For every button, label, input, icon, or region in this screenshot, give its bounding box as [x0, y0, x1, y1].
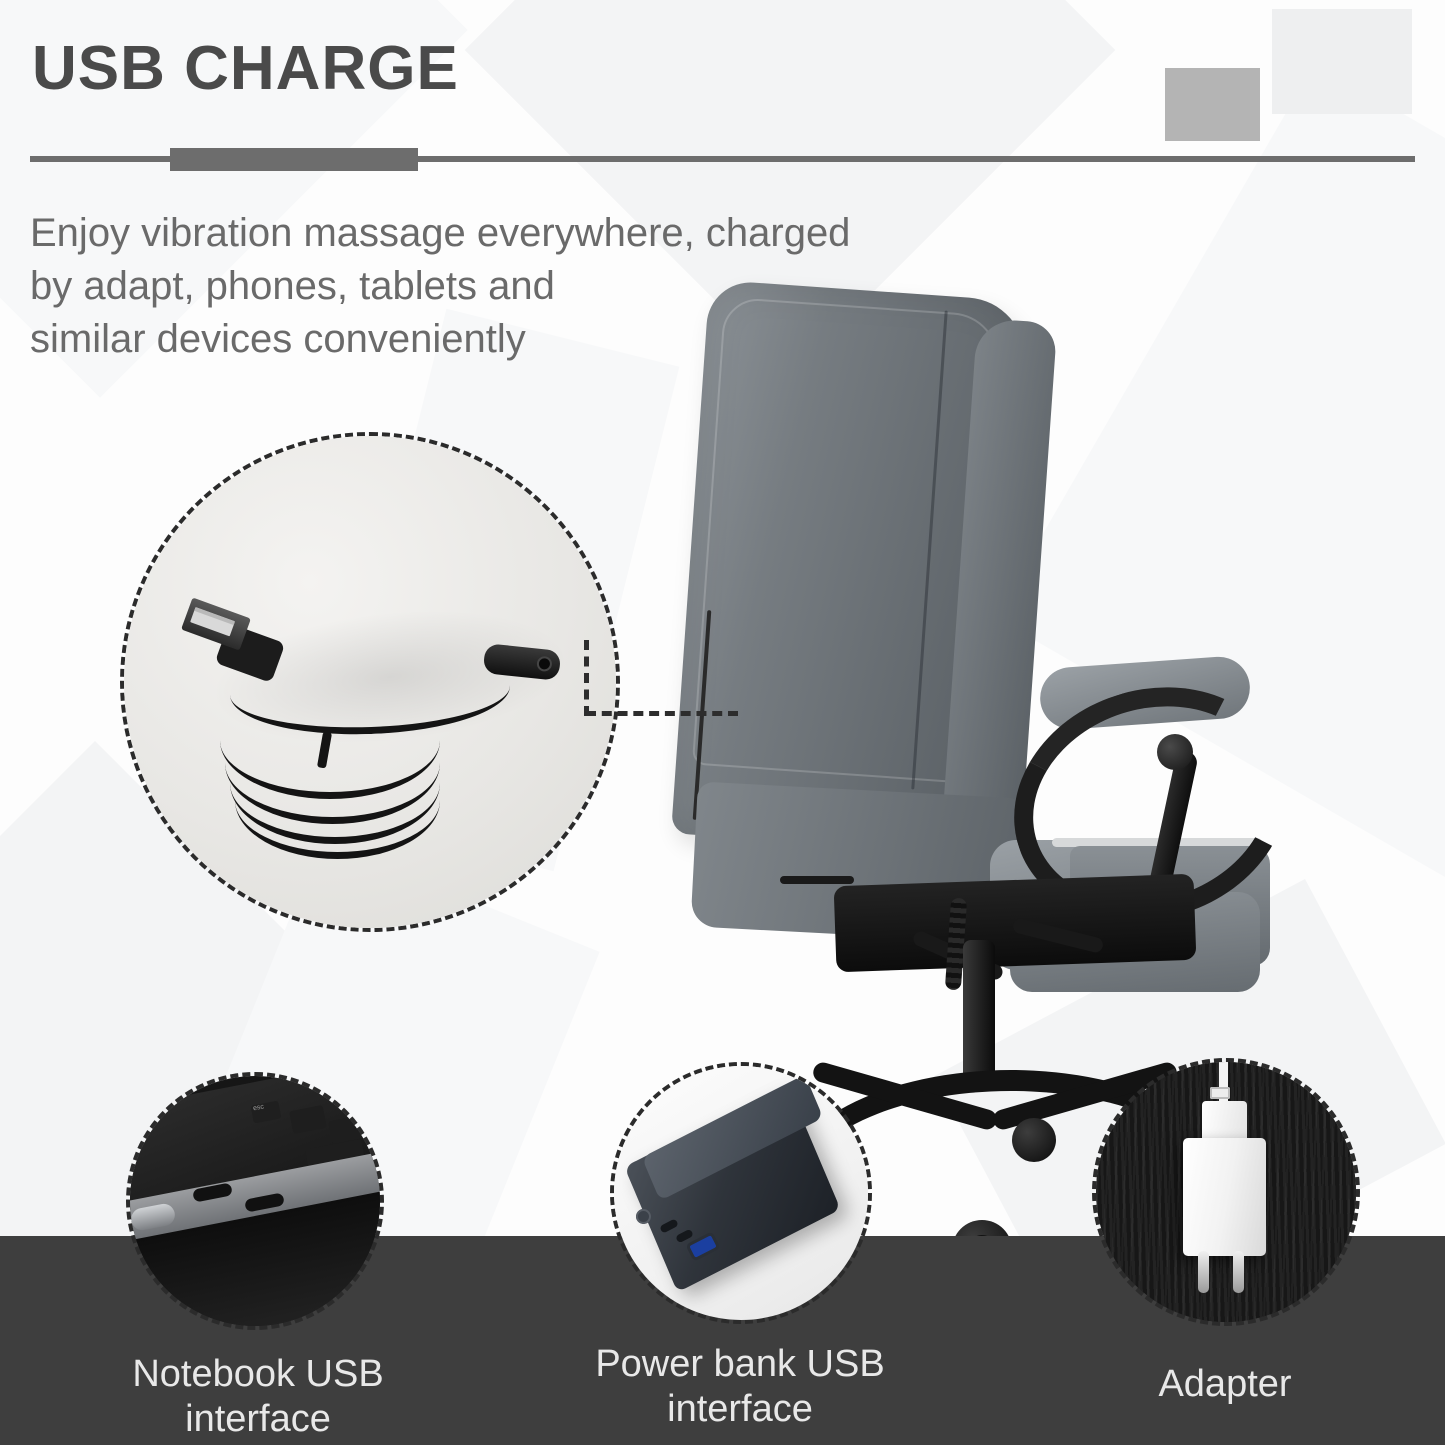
adapter-body	[1183, 1138, 1266, 1256]
caption-power-bank-line-1: Power bank USB	[590, 1342, 890, 1387]
usb-cable-photo	[120, 432, 620, 932]
caption-notebook-line-1: Notebook USB	[108, 1352, 408, 1397]
power-bank-photo	[610, 1062, 872, 1324]
notebook-usb-photo	[126, 1072, 384, 1330]
corner-square-light	[1272, 9, 1412, 114]
dashed-callout-line	[586, 711, 738, 716]
chair-gas-cylinder	[963, 940, 995, 1090]
adapter-photo	[1092, 1058, 1360, 1326]
usb-cable-callout-circle	[120, 432, 620, 932]
corner-square-gray	[1165, 68, 1260, 141]
adapter-usb-housing	[1202, 1101, 1248, 1144]
power-bank-usb-interface-circle	[610, 1062, 872, 1324]
power-bank-button	[636, 1209, 651, 1224]
header-rule-accent	[170, 148, 418, 171]
infographic-canvas: USB CHARGE Enjoy vibration massage every…	[0, 0, 1445, 1445]
caption-adapter-line-1: Adapter	[1080, 1362, 1370, 1407]
subtitle-line-1: Enjoy vibration massage everywhere, char…	[30, 207, 1010, 260]
adapter-usb-connector-icon	[1210, 1087, 1230, 1099]
caption-power-bank-line-2: interface	[590, 1387, 890, 1432]
page-title: USB CHARGE	[32, 38, 459, 100]
caption-power-bank-usb-interface: Power bank USB interface	[590, 1342, 890, 1432]
adapter-pin-left	[1198, 1251, 1209, 1293]
chair-armrest-knob	[1157, 734, 1193, 770]
usb-cable-strand-5	[235, 742, 440, 859]
adapter-pin-right	[1233, 1251, 1244, 1293]
caption-adapter: Adapter	[1080, 1362, 1370, 1407]
caption-notebook-line-2: interface	[108, 1397, 408, 1442]
office-chair-image	[660, 280, 1260, 1180]
adapter-circle	[1092, 1058, 1360, 1326]
dashed-callout-line-vertical	[584, 640, 589, 716]
chair-footrest-rod	[780, 876, 854, 884]
caption-notebook-usb-interface: Notebook USB interface	[108, 1352, 408, 1442]
chair-caster-right	[1012, 1118, 1056, 1162]
notebook-usb-interface-circle	[126, 1072, 384, 1330]
